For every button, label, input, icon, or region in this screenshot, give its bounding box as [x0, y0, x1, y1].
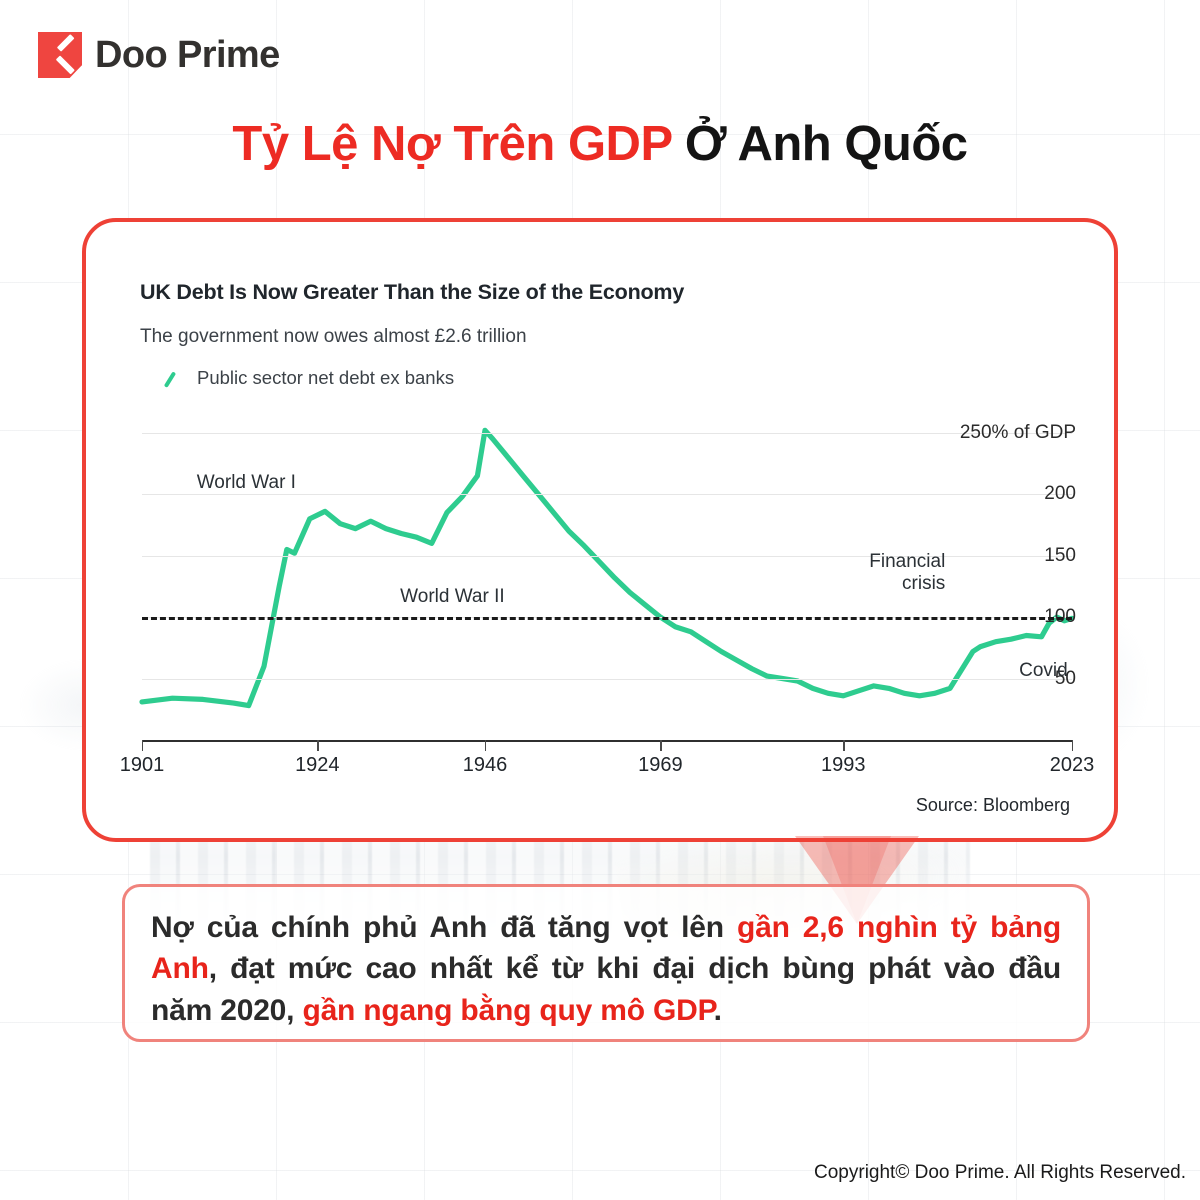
- x-axis-label: 1901: [120, 754, 165, 777]
- caption-box: Nợ của chính phủ Anh đã tăng vọt lên gần…: [122, 884, 1090, 1042]
- reference-line-100: [142, 617, 1072, 620]
- x-axis-tick: [317, 740, 318, 751]
- caption-highlight-2: gần ngang bằng quy mô GDP: [302, 994, 713, 1027]
- x-axis-label: 1946: [463, 754, 508, 777]
- chart-annotation: Financial crisis: [869, 551, 945, 596]
- x-axis-label: 1993: [821, 754, 866, 777]
- caption-seg-1: Nợ của chính phủ Anh đã tăng vọt lên: [151, 911, 737, 944]
- chart-annotation: Covid: [1019, 660, 1068, 682]
- gridline: [142, 679, 1072, 680]
- y-axis-label: 250% of GDP: [960, 422, 1076, 444]
- gridline: [142, 433, 1072, 434]
- chart-plot-area: 50100150200250% of GDP190119241946196919…: [142, 418, 1072, 740]
- chart-annotation: World War I: [197, 472, 296, 494]
- x-axis-tick: [843, 740, 844, 751]
- y-axis-label: 200: [1044, 483, 1076, 505]
- doo-prime-logo-mark-icon: [38, 32, 82, 78]
- chart-legend: Public sector net debt ex banks: [166, 367, 1074, 389]
- x-axis-tick: [660, 740, 661, 751]
- brand-name: Doo Prime: [95, 34, 280, 77]
- chart-card: UK Debt Is Now Greater Than the Size of …: [82, 218, 1118, 842]
- brand-logo: Doo Prime: [38, 32, 280, 78]
- caption-text: Nợ của chính phủ Anh đã tăng vọt lên gần…: [151, 907, 1061, 1031]
- x-axis-label: 1969: [638, 754, 683, 777]
- chart-title: UK Debt Is Now Greater Than the Size of …: [140, 280, 1074, 305]
- x-axis-tick: [485, 740, 486, 751]
- x-axis-label: 1924: [295, 754, 340, 777]
- page-title-black: Ở Anh Quốc: [672, 117, 968, 171]
- x-axis-tick: [1072, 740, 1073, 751]
- chart-source: Source: Bloomberg: [916, 795, 1070, 816]
- y-axis-label: 150: [1044, 545, 1076, 567]
- x-axis-label: 2023: [1050, 754, 1095, 777]
- chart-subtitle: The government now owes almost £2.6 tril…: [140, 326, 1074, 348]
- page-title: Tỷ Lệ Nợ Trên GDP Ở Anh Quốc: [0, 116, 1200, 172]
- copyright-footer: Copyright© Doo Prime. All Rights Reserve…: [814, 1162, 1186, 1184]
- legend-label: Public sector net debt ex banks: [197, 367, 454, 389]
- x-axis-tick: [142, 740, 143, 751]
- x-axis-line: [142, 740, 1072, 742]
- legend-line-icon: [166, 370, 186, 386]
- page-title-red: Tỷ Lệ Nợ Trên GDP: [232, 117, 671, 171]
- chart-annotation: World War II: [400, 586, 505, 608]
- caption-seg-3: .: [714, 994, 722, 1027]
- chart-header: UK Debt Is Now Greater Than the Size of …: [140, 280, 1074, 389]
